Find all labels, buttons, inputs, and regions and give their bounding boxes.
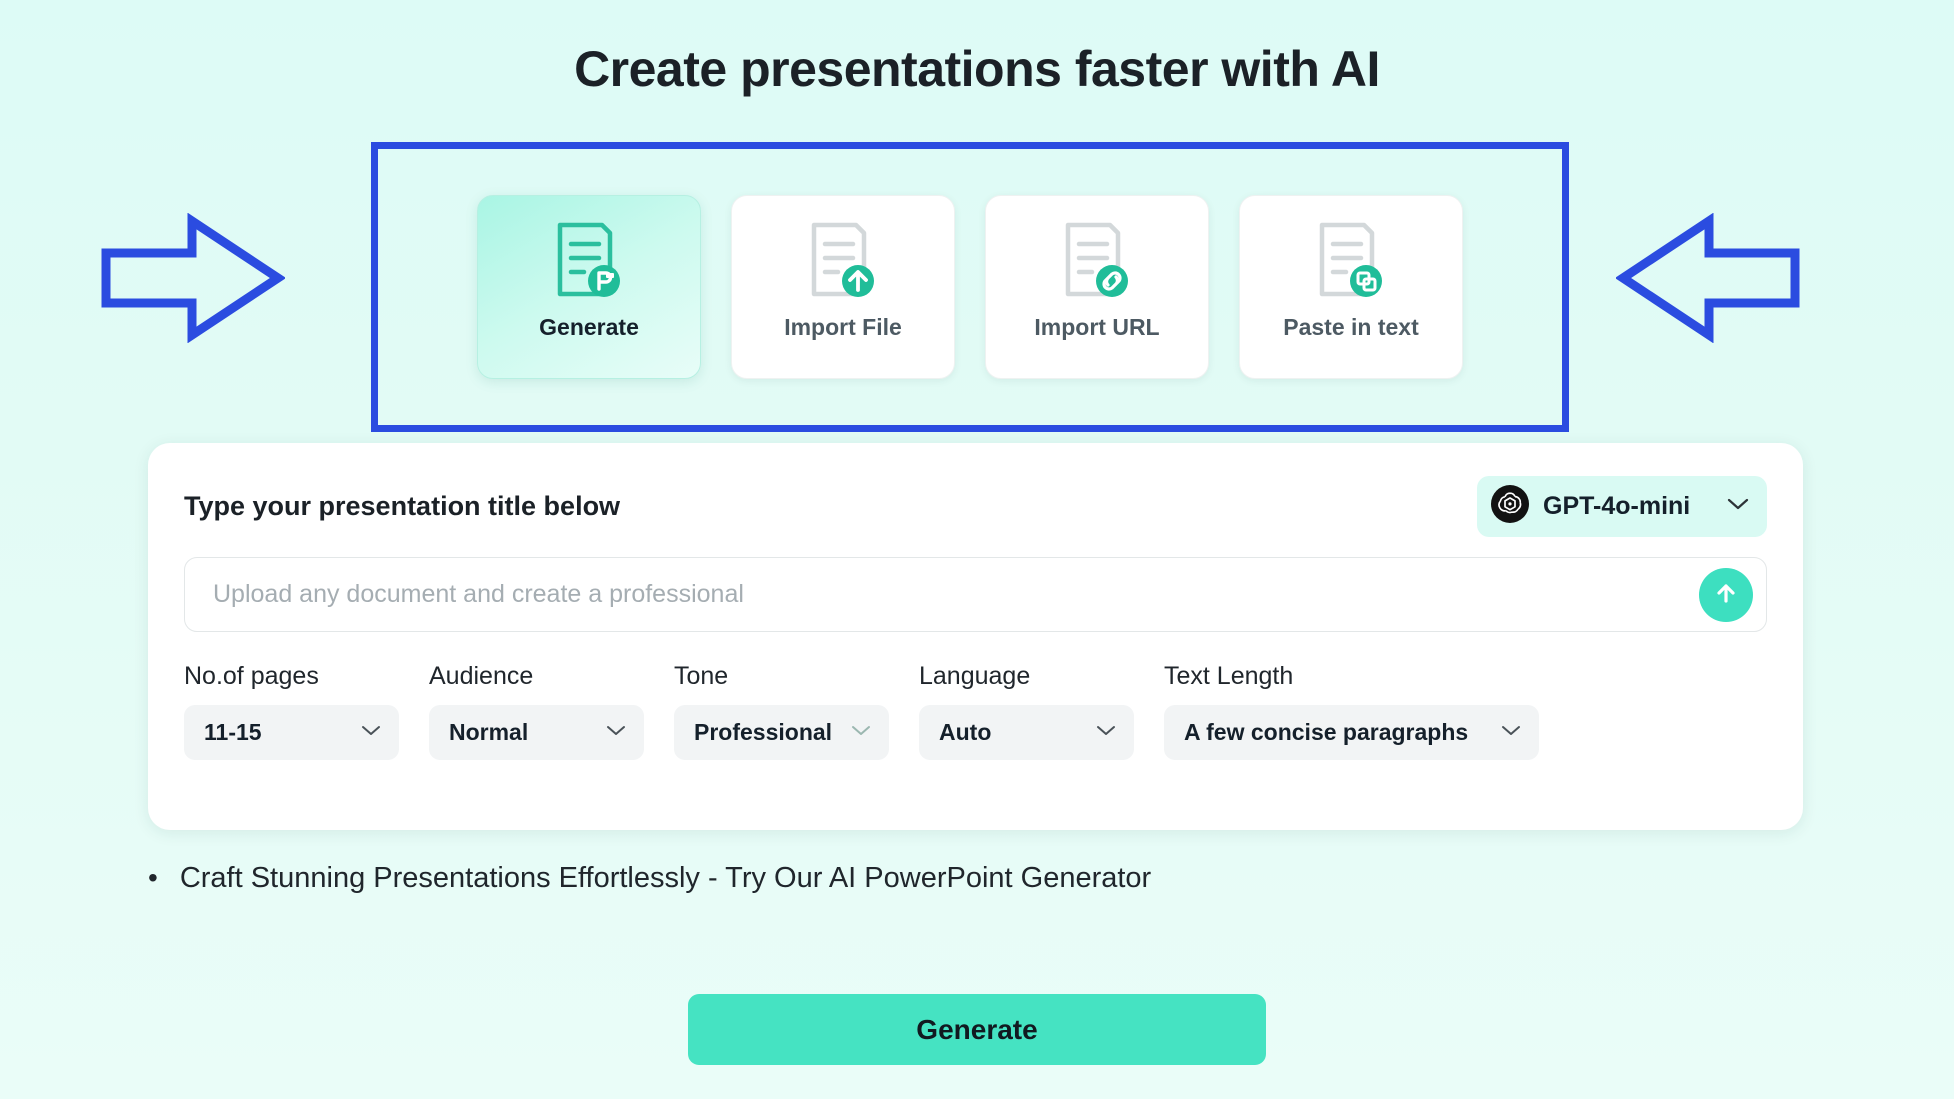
panel-heading: Type your presentation title below	[184, 491, 620, 522]
bullet-text: Craft Stunning Presentations Effortlessl…	[180, 862, 1151, 895]
chevron-down-icon	[851, 724, 871, 742]
mode-card-generate[interactable]: Generate	[477, 195, 701, 379]
arrow-left-annotation-icon	[1616, 213, 1801, 343]
mode-label: Paste in text	[1283, 314, 1419, 341]
mode-label: Import URL	[1034, 314, 1159, 341]
option-value: A few concise paragraphs	[1184, 719, 1468, 746]
chevron-down-icon	[606, 724, 626, 742]
option-value: Professional	[694, 719, 832, 746]
document-copy-icon	[1314, 220, 1388, 300]
tone-dropdown[interactable]: Professional	[674, 705, 889, 760]
chevron-down-icon	[1501, 724, 1521, 742]
generate-button[interactable]: Generate	[688, 994, 1266, 1065]
document-upload-icon	[806, 220, 880, 300]
options-row: No.of pages 11-15 Audience Normal Tone P…	[184, 662, 1767, 760]
page-title: Create presentations faster with AI	[0, 0, 1954, 98]
mode-selector: Generate Import File	[371, 142, 1569, 432]
option-group-language: Language Auto	[919, 662, 1134, 760]
text-length-dropdown[interactable]: A few concise paragraphs	[1164, 705, 1539, 760]
chevron-down-icon	[361, 724, 381, 742]
option-label: Text Length	[1164, 662, 1539, 691]
option-group-audience: Audience Normal	[429, 662, 644, 760]
option-group-text-length: Text Length A few concise paragraphs	[1164, 662, 1539, 760]
mode-label: Import File	[784, 314, 902, 341]
model-name-label: GPT-4o-mini	[1543, 492, 1713, 521]
generation-panel: Type your presentation title below GPT-4…	[148, 443, 1803, 830]
cta-wrap: Generate	[0, 994, 1954, 1065]
prompt-submit-button[interactable]	[1699, 568, 1753, 622]
option-value: Auto	[939, 719, 991, 746]
option-label: Language	[919, 662, 1134, 691]
mode-card-paste-in-text[interactable]: Paste in text	[1239, 195, 1463, 379]
chevron-down-icon	[1096, 724, 1116, 742]
option-value: 11-15	[204, 719, 262, 746]
option-group-tone: Tone Professional	[674, 662, 889, 760]
marketing-bullet: • Craft Stunning Presentations Effortles…	[148, 862, 1151, 895]
audience-dropdown[interactable]: Normal	[429, 705, 644, 760]
option-label: Tone	[674, 662, 889, 691]
bullet-marker: •	[148, 864, 158, 892]
presentation-title-input[interactable]	[184, 557, 1767, 632]
language-dropdown[interactable]: Auto	[919, 705, 1134, 760]
mode-card-import-url[interactable]: Import URL	[985, 195, 1209, 379]
option-group-pages: No.of pages 11-15	[184, 662, 399, 760]
mode-label: Generate	[539, 314, 639, 341]
option-label: No.of pages	[184, 662, 399, 691]
arrow-right-annotation-icon	[100, 213, 285, 343]
option-label: Audience	[429, 662, 644, 691]
arrow-up-icon	[1712, 579, 1740, 610]
document-p-badge-icon	[552, 220, 626, 300]
panel-header: Type your presentation title below GPT-4…	[184, 477, 1767, 535]
prompt-row	[184, 557, 1767, 632]
document-link-icon	[1060, 220, 1134, 300]
chevron-down-icon[interactable]	[1727, 497, 1749, 516]
pages-dropdown[interactable]: 11-15	[184, 705, 399, 760]
openai-logo-icon	[1491, 485, 1529, 528]
model-selector[interactable]: GPT-4o-mini	[1477, 476, 1767, 537]
option-value: Normal	[449, 719, 528, 746]
mode-card-import-file[interactable]: Import File	[731, 195, 955, 379]
